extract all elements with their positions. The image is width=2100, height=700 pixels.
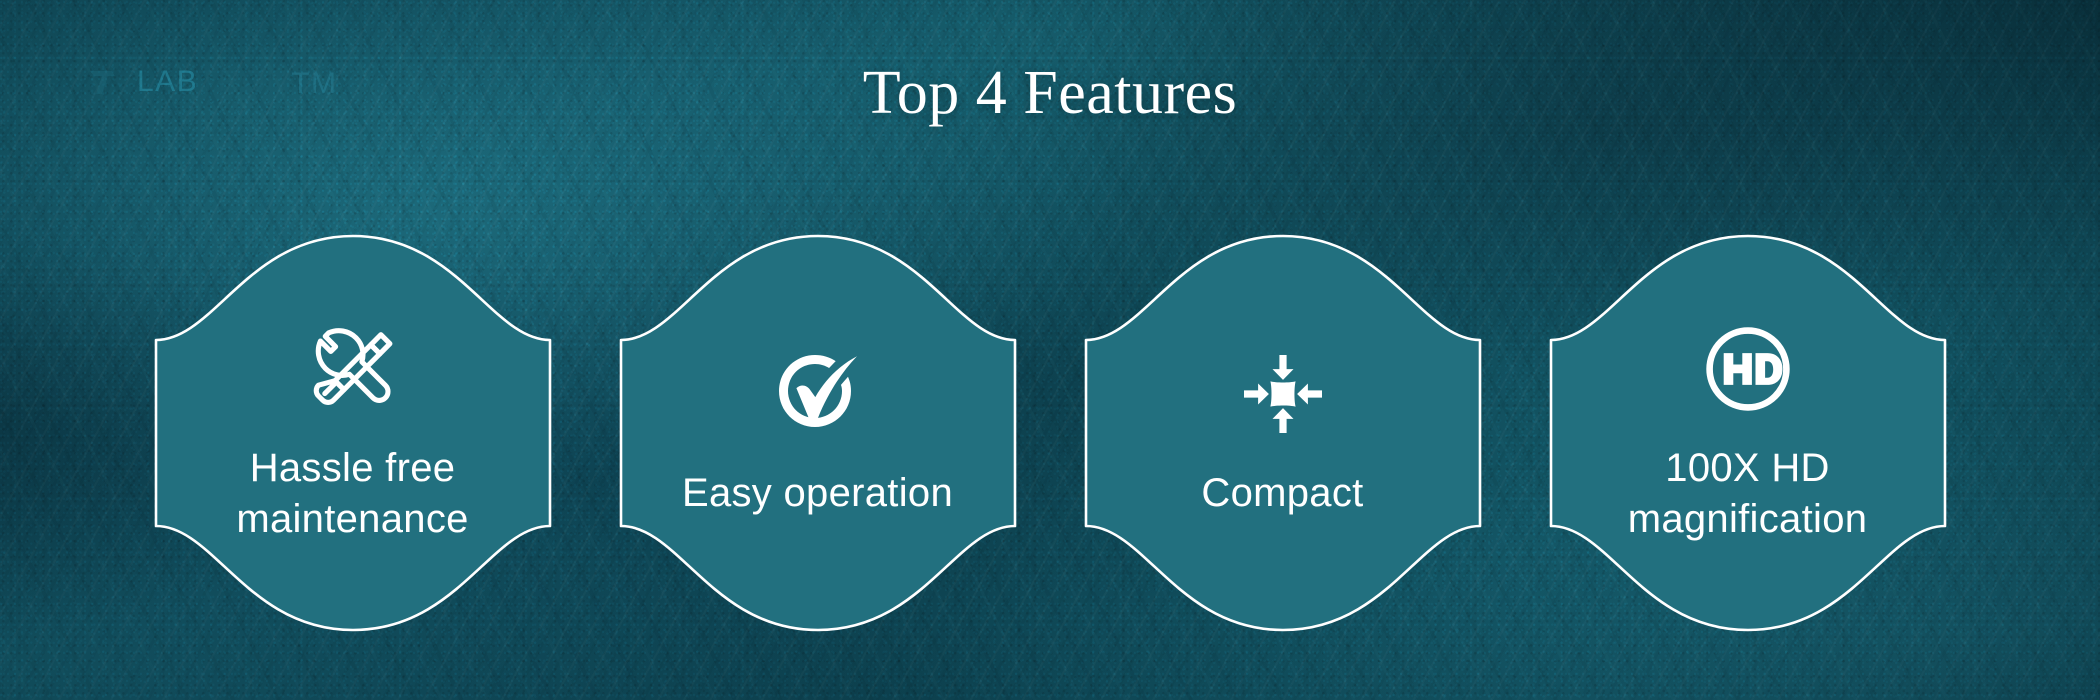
compress-arrows-icon xyxy=(1235,346,1331,442)
feature-hd-magnification[interactable]: 100X HD magnification xyxy=(1543,228,1953,638)
page-title: Top 4 Features xyxy=(0,58,2100,129)
feature-hassle-free-maintenance[interactable]: Hassle free maintenance xyxy=(148,228,558,638)
check-circle-icon xyxy=(770,346,866,442)
feature-easy-operation[interactable]: Easy operation xyxy=(613,228,1023,638)
feature-label: Hassle free maintenance xyxy=(236,443,468,545)
feature-label: Easy operation xyxy=(682,468,953,519)
feature-compact[interactable]: Compact xyxy=(1078,228,1488,638)
feature-label: 100X HD magnification xyxy=(1628,443,1868,545)
features-row: Hassle free maintenance Easy operation xyxy=(0,228,2100,638)
feature-label: Compact xyxy=(1201,468,1363,519)
tools-wrench-screwdriver-icon xyxy=(305,321,401,417)
hd-circle-icon xyxy=(1700,321,1796,417)
